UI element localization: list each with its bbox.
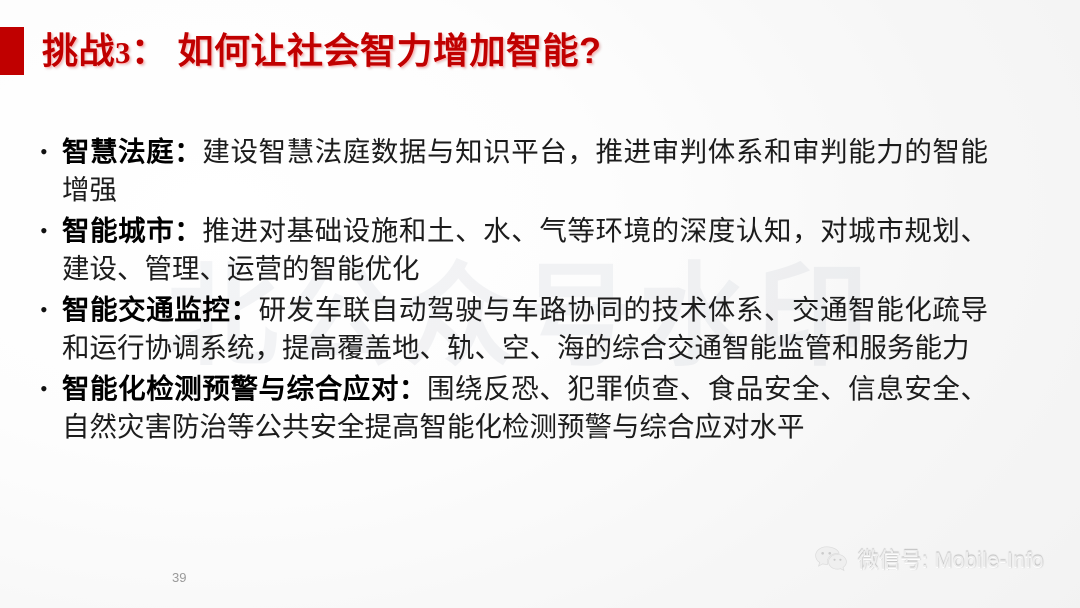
- title-accent-bar: [0, 27, 24, 75]
- wechat-footer: 微信号: Mobile-Info: [814, 544, 1044, 574]
- list-item: 智能城市：推进对基础设施和土、水、气等环境的深度认知，对城市规划、建设、管理、运…: [38, 212, 988, 288]
- bullet-lead: 智能城市：: [62, 215, 202, 246]
- bullet-lead: 智慧法庭：: [62, 136, 202, 167]
- list-item: 智能化检测预警与综合应对：围绕反恐、犯罪侦查、食品安全、信息安全、自然灾害防治等…: [38, 370, 988, 446]
- page-title: 挑战3：如何让社会智力增加智能?: [42, 33, 602, 69]
- wechat-icon: [814, 545, 848, 573]
- wechat-label: 微信号: Mobile-Info: [857, 544, 1044, 574]
- list-item: 智慧法庭：建设智慧法庭数据与知识平台，推进审判体系和审判能力的智能增强: [38, 133, 988, 209]
- slide-title: 挑战3：如何让社会智力增加智能?: [0, 26, 602, 76]
- page-number: 39: [172, 570, 186, 585]
- slide-canvas: 北公众号水印 挑战3：如何让社会智力增加智能? 智慧法庭：建设智慧法庭数据与知识…: [0, 0, 1080, 608]
- title-colon: ：: [131, 30, 168, 71]
- list-item: 智能交通监控：研发车联自动驾驶与车路协同的技术体系、交通智能化疏导和运行协调系统…: [38, 291, 988, 367]
- bullet-list: 智慧法庭：建设智慧法庭数据与知识平台，推进审判体系和审判能力的智能增强 智能城市…: [38, 133, 988, 449]
- title-question: 如何让社会智力增加智能?: [178, 30, 602, 71]
- title-prefix: 挑战: [42, 30, 115, 71]
- title-number: 3: [115, 35, 131, 70]
- bullet-lead: 智能交通监控：: [62, 294, 259, 325]
- bullet-lead: 智能化检测预警与综合应对：: [62, 373, 427, 404]
